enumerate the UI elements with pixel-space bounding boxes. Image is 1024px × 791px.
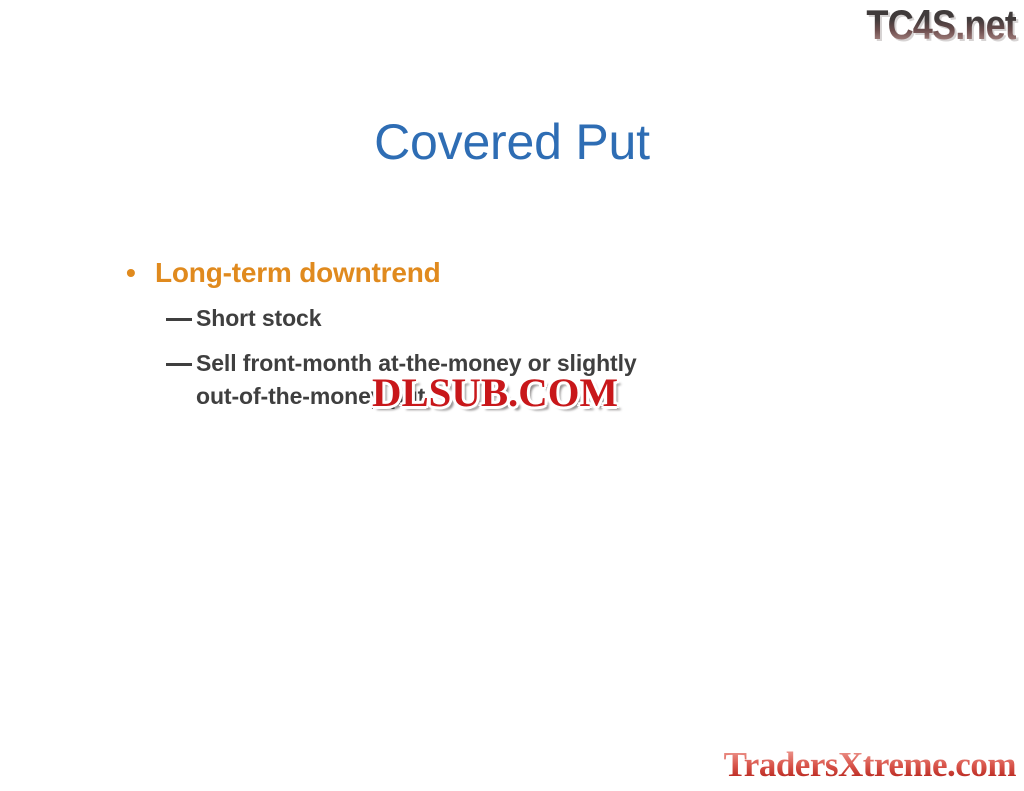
slide-canvas: TC4S.net TC4S.net Covered Put • Long-ter… xyxy=(0,0,1024,791)
page-title: Covered Put xyxy=(0,113,1024,171)
brand-bottom-logo-text: TradersXtreme.com xyxy=(724,745,1016,784)
bullet-item-level2-short-stock: Short stock xyxy=(122,302,822,335)
brand-top-logo-text: TC4S.net xyxy=(866,2,1016,48)
em-dash-icon xyxy=(166,303,192,336)
bullet-item-label: Long-term downtrend xyxy=(155,257,441,288)
brand-bottom-logo: TradersXtreme.com TradersXtreme.com xyxy=(724,745,1016,785)
watermark-dlsub: DLSUB.COM xyxy=(372,372,618,414)
bullet-item-label: Short stock xyxy=(196,305,321,331)
bullet-dot-icon: • xyxy=(126,254,136,292)
bullet-item-level1: • Long-term downtrend xyxy=(122,254,822,292)
em-dash-icon xyxy=(166,348,192,381)
